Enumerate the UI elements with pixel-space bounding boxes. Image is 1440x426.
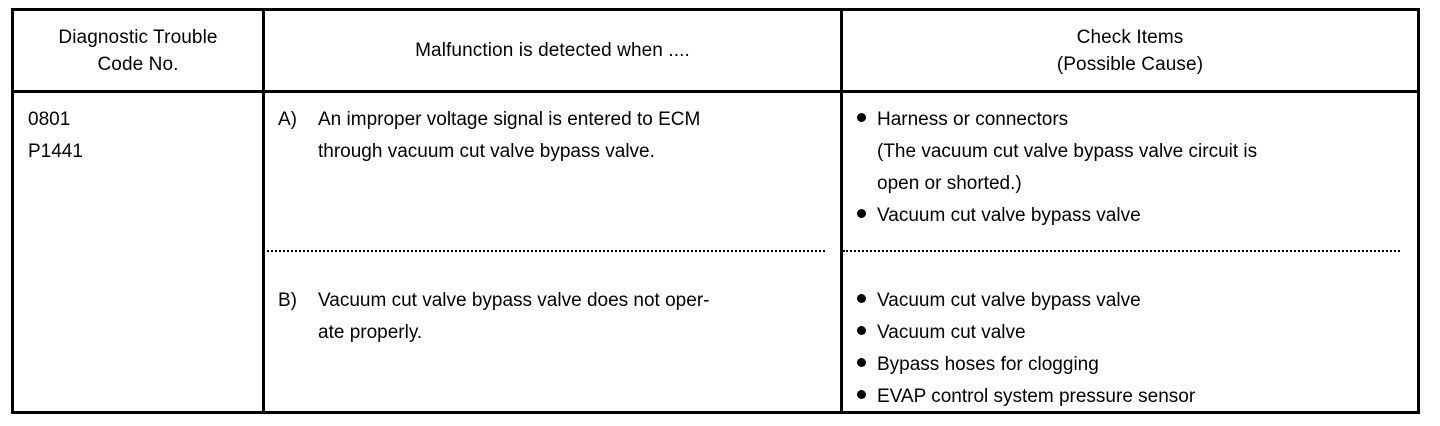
malfunction-a-line-1: An improper voltage signal is entered to… <box>318 104 832 136</box>
sub-row-divider-malfunction <box>262 250 825 252</box>
header-code-line-1: Diagnostic Trouble <box>58 24 217 51</box>
check-items-group-a: Harness or connectors (The vacuum cut va… <box>843 104 1417 232</box>
malfunction-text-a: An improper voltage signal is entered to… <box>318 104 840 168</box>
malfunction-text-b: Vacuum cut valve bypass valve does not o… <box>318 285 840 349</box>
malfunction-item-a: A) An improper voltage signal is entered… <box>265 104 840 168</box>
check-a-0-line-3: open or shorted.) <box>877 168 1417 200</box>
malfunction-row-a: A) An improper voltage signal is entered… <box>278 104 840 168</box>
dtc-code-list: 0801 P1441 <box>14 93 262 168</box>
body-column-dtc-code: 0801 P1441 <box>14 93 262 411</box>
check-a-0-line-1: Harness or connectors <box>877 104 1417 136</box>
check-b-2-line-1: Bypass hoses for clogging <box>877 349 1417 381</box>
dtc-code-0: 0801 <box>28 104 262 136</box>
header-malfunction-line-1: Malfunction is detected when .... <box>415 37 690 64</box>
header-cell-malfunction: Malfunction is detected when .... <box>265 11 840 90</box>
check-item: Vacuum cut valve bypass valve <box>857 285 1417 317</box>
malfunction-item-b: B) Vacuum cut valve bypass valve does no… <box>265 285 840 349</box>
check-item-text: EVAP control system pressure sensor <box>877 381 1417 413</box>
check-item: Bypass hoses for clogging <box>857 349 1417 381</box>
check-item: Vacuum cut valve <box>857 317 1417 349</box>
malfunction-b-line-2: ate properly. <box>318 317 832 349</box>
header-code-line-2: Code No. <box>97 51 178 78</box>
bullet-dot-icon <box>857 200 877 232</box>
dtc-code-1: P1441 <box>28 136 262 168</box>
diagnostic-trouble-code-table: Diagnostic Trouble Code No. Malfunction … <box>11 8 1420 414</box>
check-item-text: Bypass hoses for clogging <box>877 349 1417 381</box>
check-item-text: Vacuum cut valve bypass valve <box>877 200 1417 232</box>
malfunction-a-line-2: through vacuum cut valve bypass valve. <box>318 136 832 168</box>
check-b-0-line-1: Vacuum cut valve bypass valve <box>877 285 1417 317</box>
malfunction-b-line-1: Vacuum cut valve bypass valve does not o… <box>318 285 832 317</box>
check-item-text: Vacuum cut valve <box>877 317 1417 349</box>
body-column-malfunction: A) An improper voltage signal is entered… <box>265 93 840 411</box>
check-item-text: Harness or connectors (The vacuum cut va… <box>877 104 1417 200</box>
check-items-group-b: Vacuum cut valve bypass valve Vacuum cut… <box>843 285 1417 413</box>
check-b-1-line-1: Vacuum cut valve <box>877 317 1417 349</box>
bullet-dot-icon <box>857 349 877 381</box>
check-item: Vacuum cut valve bypass valve <box>857 200 1417 232</box>
sub-row-divider-check-items <box>843 250 1400 252</box>
bullet-dot-icon <box>857 285 877 317</box>
page-root: Diagnostic Trouble Code No. Malfunction … <box>0 0 1440 426</box>
check-item: Harness or connectors (The vacuum cut va… <box>857 104 1417 200</box>
bullet-dot-icon <box>857 317 877 349</box>
check-a-1-line-1: Vacuum cut valve bypass valve <box>877 200 1417 232</box>
body-column-check-items: Harness or connectors (The vacuum cut va… <box>843 93 1417 411</box>
bullet-dot-icon <box>857 381 877 413</box>
check-a-0-line-2: (The vacuum cut valve bypass valve circu… <box>877 136 1417 168</box>
header-cell-check-items: Check Items (Possible Cause) <box>843 11 1417 90</box>
check-item-text: Vacuum cut valve bypass valve <box>877 285 1417 317</box>
malfunction-label-a: A) <box>278 104 318 136</box>
malfunction-label-b: B) <box>278 285 318 317</box>
header-cell-code: Diagnostic Trouble Code No. <box>14 11 262 90</box>
header-check-line-1: Check Items <box>1077 24 1184 51</box>
check-b-3-line-1: EVAP control system pressure sensor <box>877 381 1417 413</box>
bullet-dot-icon <box>857 104 877 136</box>
header-check-line-2: (Possible Cause) <box>1057 51 1203 78</box>
check-item: EVAP control system pressure sensor <box>857 381 1417 413</box>
malfunction-row-b: B) Vacuum cut valve bypass valve does no… <box>278 285 840 349</box>
